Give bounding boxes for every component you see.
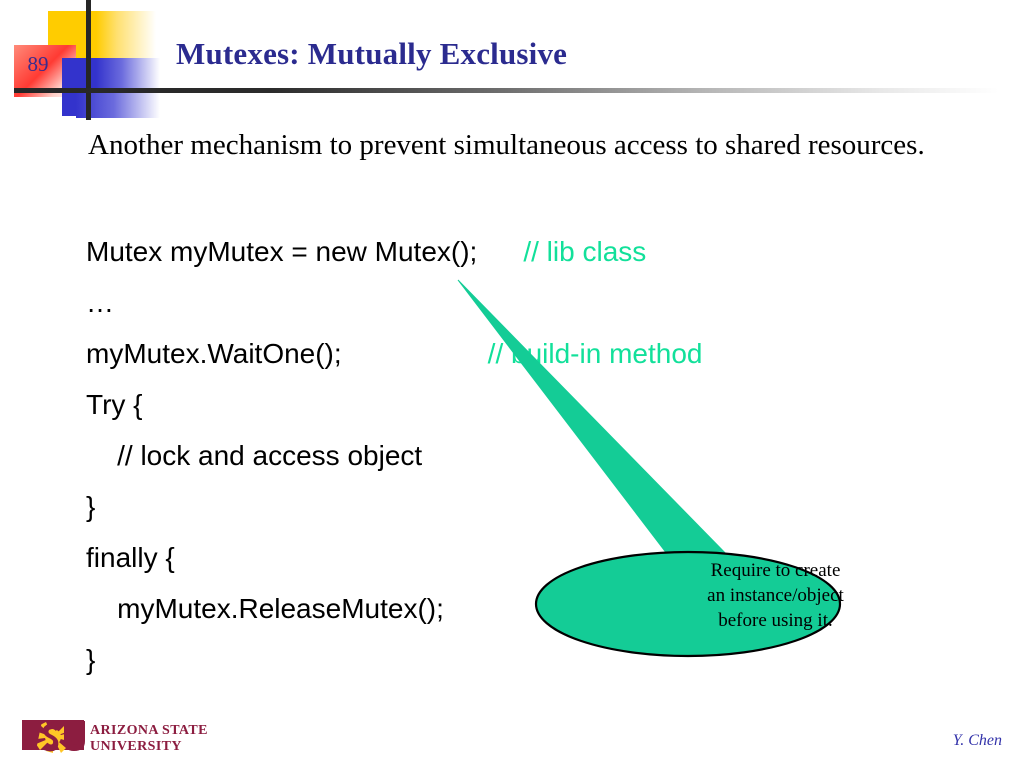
code-text: finally { <box>86 542 175 573</box>
slide-canvas: 89 Mutexes: Mutually Exclusive Another m… <box>0 0 1024 768</box>
code-text: Mutex myMutex = new Mutex(); <box>86 236 477 267</box>
page-title: Mutexes: Mutually Exclusive <box>176 36 567 72</box>
callout-line-3: before using it. <box>643 608 908 633</box>
asu-wordmark-line2: UNIVERSITY <box>90 739 182 754</box>
code-text: } <box>86 491 95 522</box>
code-text: myMutex.WaitOne(); <box>86 338 342 369</box>
header-horizontal-rule <box>14 88 999 93</box>
slide-number: 89 <box>16 52 60 77</box>
decoration-vertical-rule <box>86 0 91 120</box>
callout-balloon: Require to create an instance/object bef… <box>440 262 960 662</box>
callout-line-1: Require to create <box>643 558 908 583</box>
code-text: // lock and access object <box>86 440 422 471</box>
code-text: } <box>86 644 95 675</box>
intro-paragraph: Another mechanism to prevent simultaneou… <box>88 128 968 163</box>
footer-author: Y. Chen <box>953 732 1002 750</box>
code-text: Try { <box>86 389 143 420</box>
callout-text: Require to create an instance/object bef… <box>643 558 908 633</box>
code-text: myMutex.ReleaseMutex(); <box>86 593 444 624</box>
asu-logo-mark: ARIZONA STATE UNIVERSITY <box>22 714 212 756</box>
callout-line-2: an instance/object <box>643 583 908 608</box>
asu-logo: ARIZONA STATE UNIVERSITY <box>22 714 212 756</box>
callout-tail <box>458 280 736 580</box>
decoration-blue-gradient-upper <box>96 58 160 88</box>
decoration-yellow-gradient <box>96 11 156 59</box>
asu-wordmark-line1: ARIZONA STATE <box>90 723 208 738</box>
code-text: … <box>86 287 114 318</box>
